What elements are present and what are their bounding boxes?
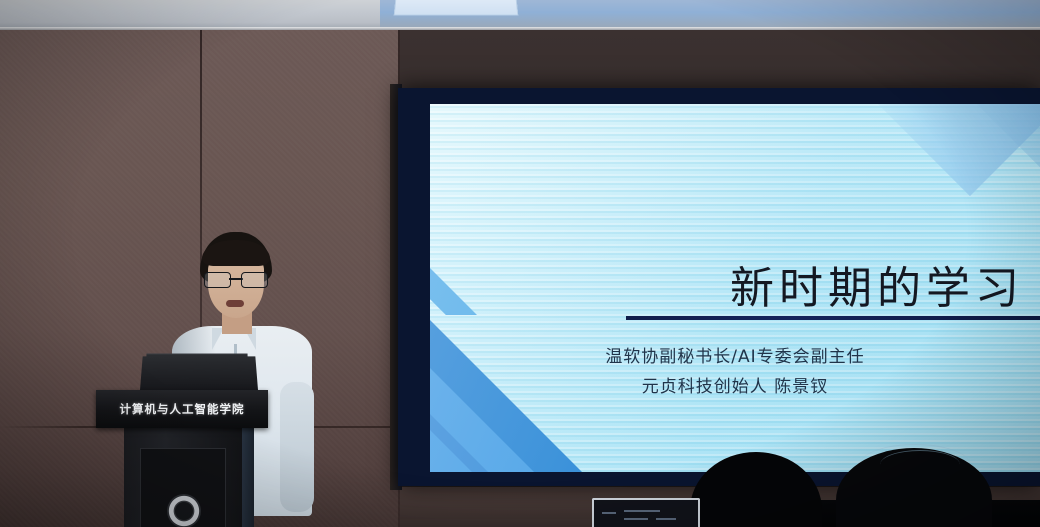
audience-hair-highlight: [880, 450, 960, 479]
university-emblem-center: [175, 502, 193, 520]
podium-name-plate-text: 计算机与人工智能学院: [96, 390, 268, 428]
presentation-slide: 新时期的学习 温软协副秘书长/AI专委会副主任 元贞科技创始人 陈景钗: [430, 104, 1040, 472]
glasses-lens-left: [204, 272, 231, 288]
slide-title-rule: [626, 316, 1040, 320]
slide-title: 新时期的学习: [430, 252, 1024, 316]
glasses-lens-right: [241, 272, 268, 288]
glasses-icon: [204, 272, 268, 286]
slide-subtitle-line-2: 元贞科技创始人 陈景钗: [430, 372, 1040, 397]
speaker-mouth: [226, 300, 244, 307]
slide-corner-accent: [864, 104, 1040, 196]
slide-subtitle-line-1: 温软协副秘书长/AI专委会副主任: [430, 342, 1040, 367]
speaker-arm: [280, 382, 314, 512]
ceiling-light-panel-icon: [394, 0, 519, 16]
monitor-text-line: [624, 518, 648, 520]
monitor-text-line: [656, 518, 676, 520]
monitor-text-line: [602, 512, 616, 514]
monitor-text-line: [624, 510, 660, 512]
lecture-hall-photo: 新时期的学习 温软协副秘书长/AI专委会副主任 元贞科技创始人 陈景钗 计算机与…: [0, 0, 1040, 527]
podium-surface: [140, 356, 258, 390]
podium-name-plate: 计算机与人工智能学院: [96, 390, 268, 428]
